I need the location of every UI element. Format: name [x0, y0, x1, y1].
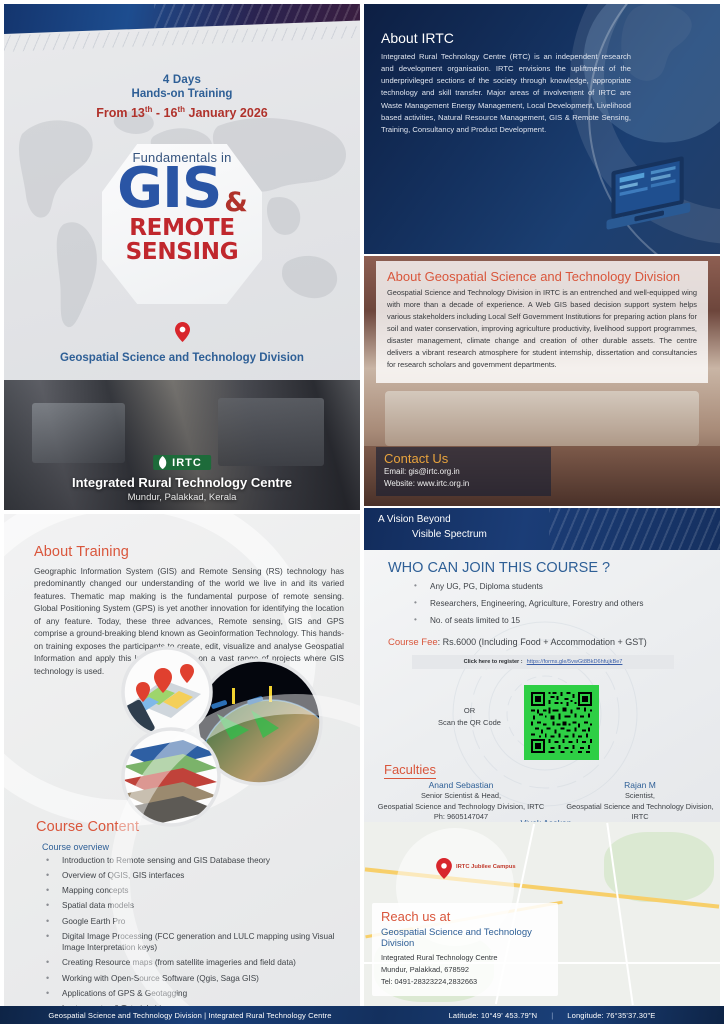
- hero-training-type: Hands-on Training: [4, 88, 360, 100]
- footer-longitude: Longitude: 76°35'37.30"E: [567, 1011, 655, 1020]
- footer-separator: |: [551, 1011, 553, 1020]
- right-column: About IRTC Integrated Rural Technology C…: [364, 0, 724, 1024]
- contact-us-heading: Contact Us: [384, 451, 543, 466]
- footer-org-text: Geospatial Science and Technology Divisi…: [48, 1011, 331, 1020]
- about-geospatial-heading: About Geospatial Science and Technology …: [387, 269, 697, 284]
- map-marker-icon[interactable]: [436, 858, 452, 879]
- list-item: Applications of GPS & Geotagging: [36, 988, 356, 1000]
- laptop-icon: [595, 156, 710, 248]
- list-item: Google Earth Pro: [36, 916, 356, 928]
- list-item: Creating Resource maps (from satellite i…: [36, 957, 356, 969]
- list-item: Any UG, PG, Diploma students: [410, 582, 643, 592]
- list-item: No. of seats limited to 15: [410, 616, 643, 626]
- list-item: Mapping concepts: [36, 885, 356, 897]
- course-content-heading: Course Content: [36, 819, 356, 835]
- about-irtc-panel: About IRTC Integrated Rural Technology C…: [364, 4, 720, 254]
- course-fee-label: Course Fee: [388, 637, 438, 648]
- list-item: Researchers, Engineering, Agriculture, F…: [410, 599, 643, 609]
- map-pin-icon: [175, 322, 190, 342]
- about-geospatial-card: About Geospatial Science and Technology …: [376, 261, 708, 383]
- gis-collage-graphic: [99, 644, 344, 829]
- vision-line-2: Visible Spectrum: [412, 529, 487, 540]
- reach-us-division: Geospatial Science and Technology Divisi…: [381, 927, 549, 949]
- about-training-heading: About Training: [34, 544, 344, 560]
- hero-badge-gis: GIS&: [92, 163, 272, 216]
- registration-bar[interactable]: Click here to register : https://forms.g…: [412, 655, 674, 669]
- training-content-panel: About Training Geographic Information Sy…: [4, 514, 360, 1006]
- contact-us-block: Contact Us Email: gis@irtc.org.in Websit…: [376, 447, 551, 496]
- faculty-name: Rajan M: [560, 780, 720, 790]
- footer-right: Latitude: 10°49' 453.79"N | Longitude: 7…: [380, 1006, 724, 1024]
- reach-us-block: Reach us at Geospatial Science and Techn…: [372, 903, 558, 996]
- left-column: 4 Days Hands-on Training From 13th - 16t…: [0, 0, 364, 1024]
- register-link[interactable]: https://forms.gle/5vwGt8BkD6hfujkBe7: [527, 659, 623, 665]
- faculty-name: Anand Sebastian: [368, 780, 554, 790]
- scan-qr-text: OR Scan the QR Code: [422, 705, 517, 729]
- reach-us-phone: Tel: 0491-28323224,2832663: [381, 976, 549, 988]
- list-item: Overview of QGIS, GIS interfaces: [36, 870, 356, 882]
- hero-badge-sensing: SENSING: [92, 241, 272, 264]
- location-map-panel[interactable]: IRTC Jubilee Campus Reach us at Geospati…: [364, 822, 720, 1006]
- footer-latitude: Latitude: 10°49' 453.79"N: [449, 1011, 538, 1020]
- course-fee-row: Course Fee: Rs.6000 (Including Food + Ac…: [388, 637, 647, 648]
- reach-us-line-1: Integrated Rural Technology Centre: [381, 952, 549, 964]
- course-overview-subheading: Course overview: [42, 842, 356, 852]
- contact-website[interactable]: Website: www.irtc.org.in: [384, 478, 543, 490]
- leaf-icon: [157, 456, 168, 469]
- contact-email[interactable]: Email: gis@irtc.org.in: [384, 466, 543, 478]
- org-name: Integrated Rural Technology Centre: [4, 475, 360, 490]
- qr-code[interactable]: [524, 685, 599, 760]
- faculty-role: Scientist,: [560, 791, 720, 802]
- who-can-join-list: Any UG, PG, Diploma students Researchers…: [410, 582, 643, 633]
- irtc-logo: IRTC: [153, 455, 211, 470]
- about-irtc-body: Integrated Rural Technology Centre (RTC)…: [381, 51, 631, 136]
- who-can-join-heading: WHO CAN JOIN THIS COURSE ?: [388, 560, 610, 576]
- course-fee-value: : Rs.6000 (Including Food + Accommodatio…: [438, 637, 647, 647]
- org-location: Mundur, Palakkad, Kerala: [4, 492, 360, 503]
- faculty-card-2: Rajan M Scientist, Geospatial Science an…: [560, 780, 720, 822]
- irtc-logo-text: IRTC: [172, 457, 202, 469]
- poster-page: 4 Days Hands-on Training From 13th - 16t…: [0, 0, 724, 1024]
- register-label: Click here to register :: [464, 659, 523, 665]
- hero-lab-photo: IRTC Integrated Rural Technology Centre …: [4, 380, 360, 510]
- hero-badge-ampersand: &: [224, 187, 247, 218]
- about-irtc-heading: About IRTC: [381, 30, 454, 46]
- faculty-division: Geospatial Science and Technology Divisi…: [368, 802, 554, 813]
- about-geospatial-body: Geospatial Science and Technology Divisi…: [387, 287, 697, 371]
- list-item: Introduction to Remote sensing and GIS D…: [36, 855, 356, 867]
- course-content-section: Course Content Course overview Introduct…: [36, 819, 356, 1006]
- list-item: Spatial data models: [36, 900, 356, 912]
- who-can-join-panel: WHO CAN JOIN THIS COURSE ? Any UG, PG, D…: [364, 550, 720, 822]
- reach-us-heading: Reach us at: [381, 909, 549, 924]
- about-geospatial-panel: About Geospatial Science and Technology …: [364, 256, 720, 506]
- hero-date-range: From 13th - 16th January 2026: [4, 105, 360, 120]
- hero-panel: 4 Days Hands-on Training From 13th - 16t…: [4, 4, 360, 510]
- vision-line-1: A Vision Beyond: [378, 514, 451, 525]
- page-footer: Geospatial Science and Technology Divisi…: [0, 1006, 724, 1024]
- course-content-list: Introduction to Remote sensing and GIS D…: [36, 855, 356, 1006]
- faculty-role: Senior Scientist & Head,: [368, 791, 554, 802]
- hero-division-label: Geospatial Science and Technology Divisi…: [4, 352, 360, 364]
- footer-left: Geospatial Science and Technology Divisi…: [0, 1006, 380, 1024]
- map-green-area: [604, 832, 714, 902]
- faculties-heading: Faculties: [384, 762, 436, 779]
- hero-badge-text: Fundamentals in GIS& REMOTE SENSING: [92, 150, 272, 265]
- faculty-card-1: Anand Sebastian Senior Scientist & Head,…: [368, 780, 554, 822]
- vision-banner: A Vision Beyond Visible Spectrum: [364, 508, 720, 550]
- list-item: Digital Image Processing (FCC generation…: [36, 931, 356, 954]
- hero-dates: 4 Days Hands-on Training From 13th - 16t…: [4, 74, 360, 120]
- hero-duration: 4 Days: [4, 74, 360, 86]
- list-item: Working with Open-Source Software (Qgis,…: [36, 973, 356, 985]
- map-marker-label: IRTC Jubilee Campus: [456, 864, 516, 870]
- reach-us-line-2: Mundur, Palakkad, 678592: [381, 964, 549, 976]
